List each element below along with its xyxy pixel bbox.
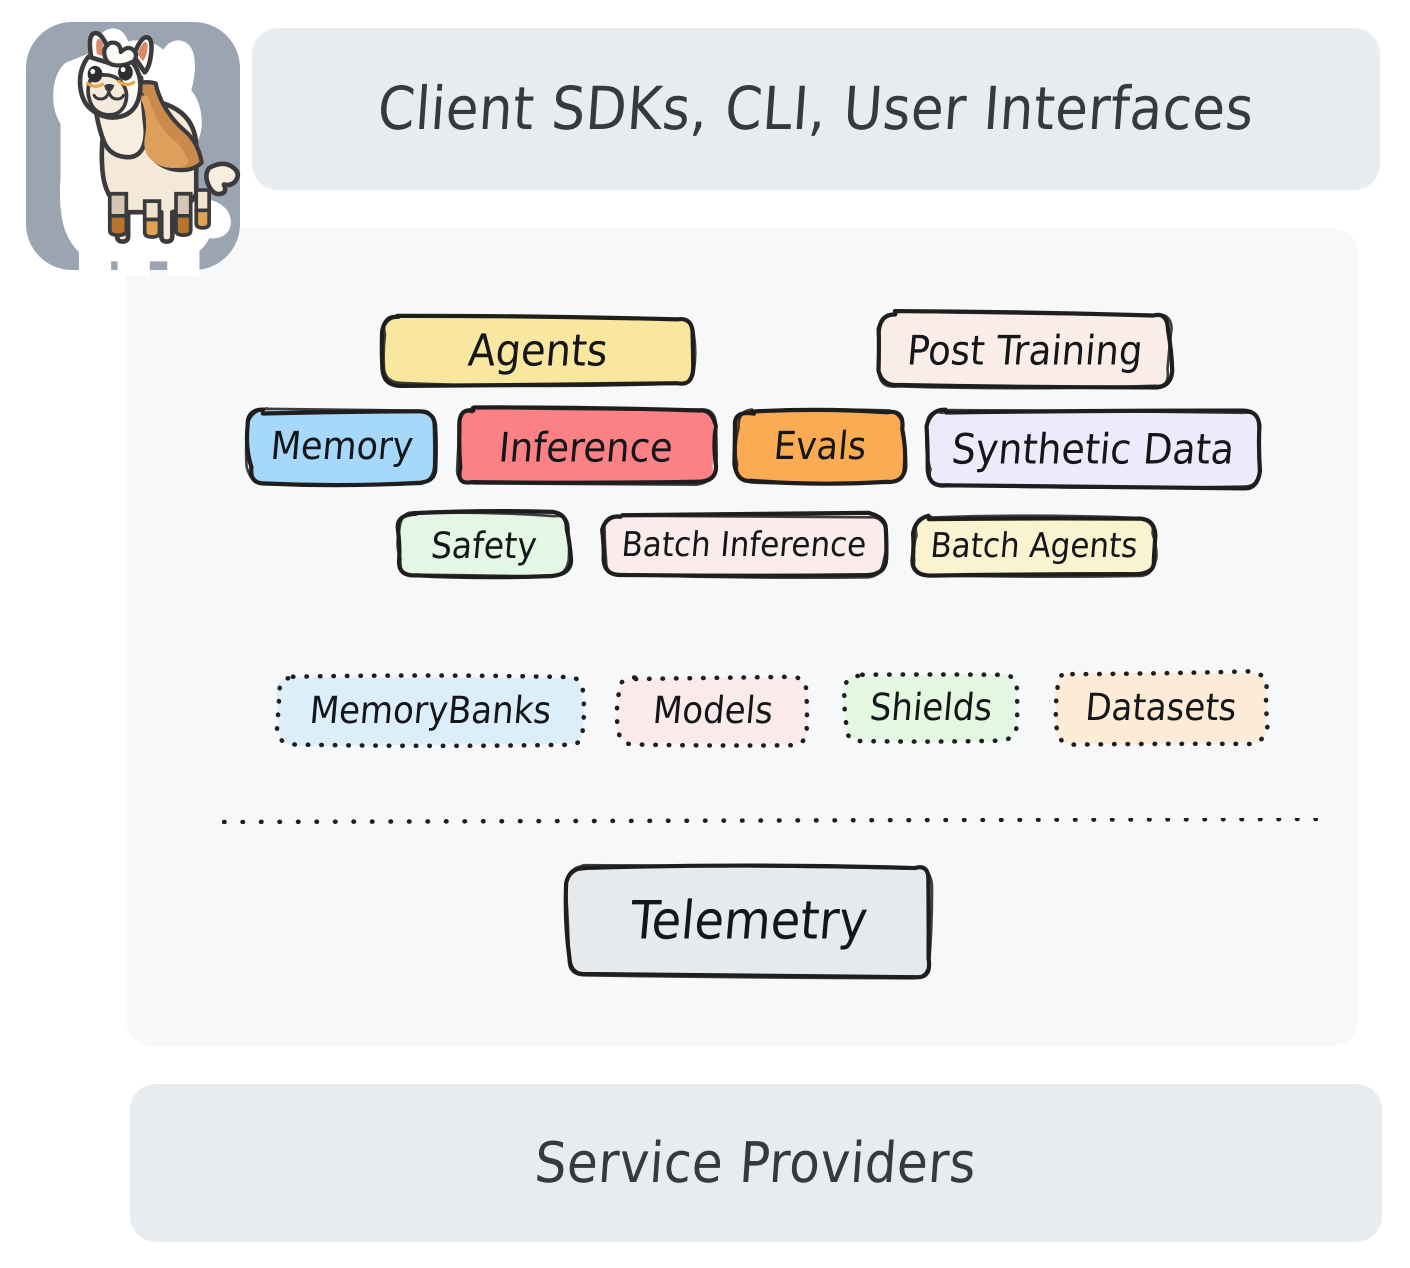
top-banner: Client SDKs, CLI, User Interfaces <box>252 28 1380 190</box>
api-node-datasets[interactable]: Datasets <box>1056 673 1266 743</box>
node-shape-batch-inference <box>596 507 892 583</box>
api-node-safety[interactable]: Safety <box>399 514 569 576</box>
node-shape-memory <box>241 403 443 491</box>
node-shape-datasets <box>1048 665 1274 751</box>
node-shape-agents <box>375 309 701 393</box>
node-shape-inference <box>450 402 722 492</box>
diagram-canvas: Client SDKs, CLI, User Interfaces <box>0 0 1410 1268</box>
api-node-evals[interactable]: Evals <box>736 412 904 482</box>
bottom-banner-label: Service Providers <box>533 1131 979 1196</box>
api-node-memory[interactable]: Memory <box>249 411 435 483</box>
node-shape-synthetic-data <box>920 403 1266 495</box>
api-node-shields[interactable]: Shields <box>845 675 1017 741</box>
node-shape-telemetry <box>560 858 938 984</box>
section-divider <box>222 818 1318 824</box>
node-shape-evals <box>728 404 912 490</box>
api-node-batch-inference[interactable]: Batch Inference <box>604 515 884 575</box>
api-node-agents[interactable]: Agents <box>383 317 693 385</box>
llama-logo-icon <box>28 24 242 276</box>
node-shape-shields <box>837 667 1025 749</box>
node-shape-models <box>610 670 816 752</box>
bottom-banner: Service Providers <box>130 1084 1382 1242</box>
telemetry-node[interactable]: Telemetry <box>568 866 930 976</box>
api-node-memory-banks[interactable]: MemoryBanks <box>278 677 583 745</box>
api-node-synthetic-data[interactable]: Synthetic Data <box>928 411 1258 487</box>
top-banner-label: Client SDKs, CLI, User Interfaces <box>376 75 1256 143</box>
api-node-post-training[interactable]: Post Training <box>880 313 1170 387</box>
node-shape-safety <box>391 506 577 584</box>
api-node-inference[interactable]: Inference <box>458 410 714 484</box>
node-shape-post-training <box>872 305 1178 395</box>
api-node-models[interactable]: Models <box>618 678 808 744</box>
node-shape-batch-agents <box>906 509 1162 583</box>
api-node-batch-agents[interactable]: Batch Agents <box>914 517 1154 575</box>
node-shape-memory-banks <box>270 669 591 753</box>
